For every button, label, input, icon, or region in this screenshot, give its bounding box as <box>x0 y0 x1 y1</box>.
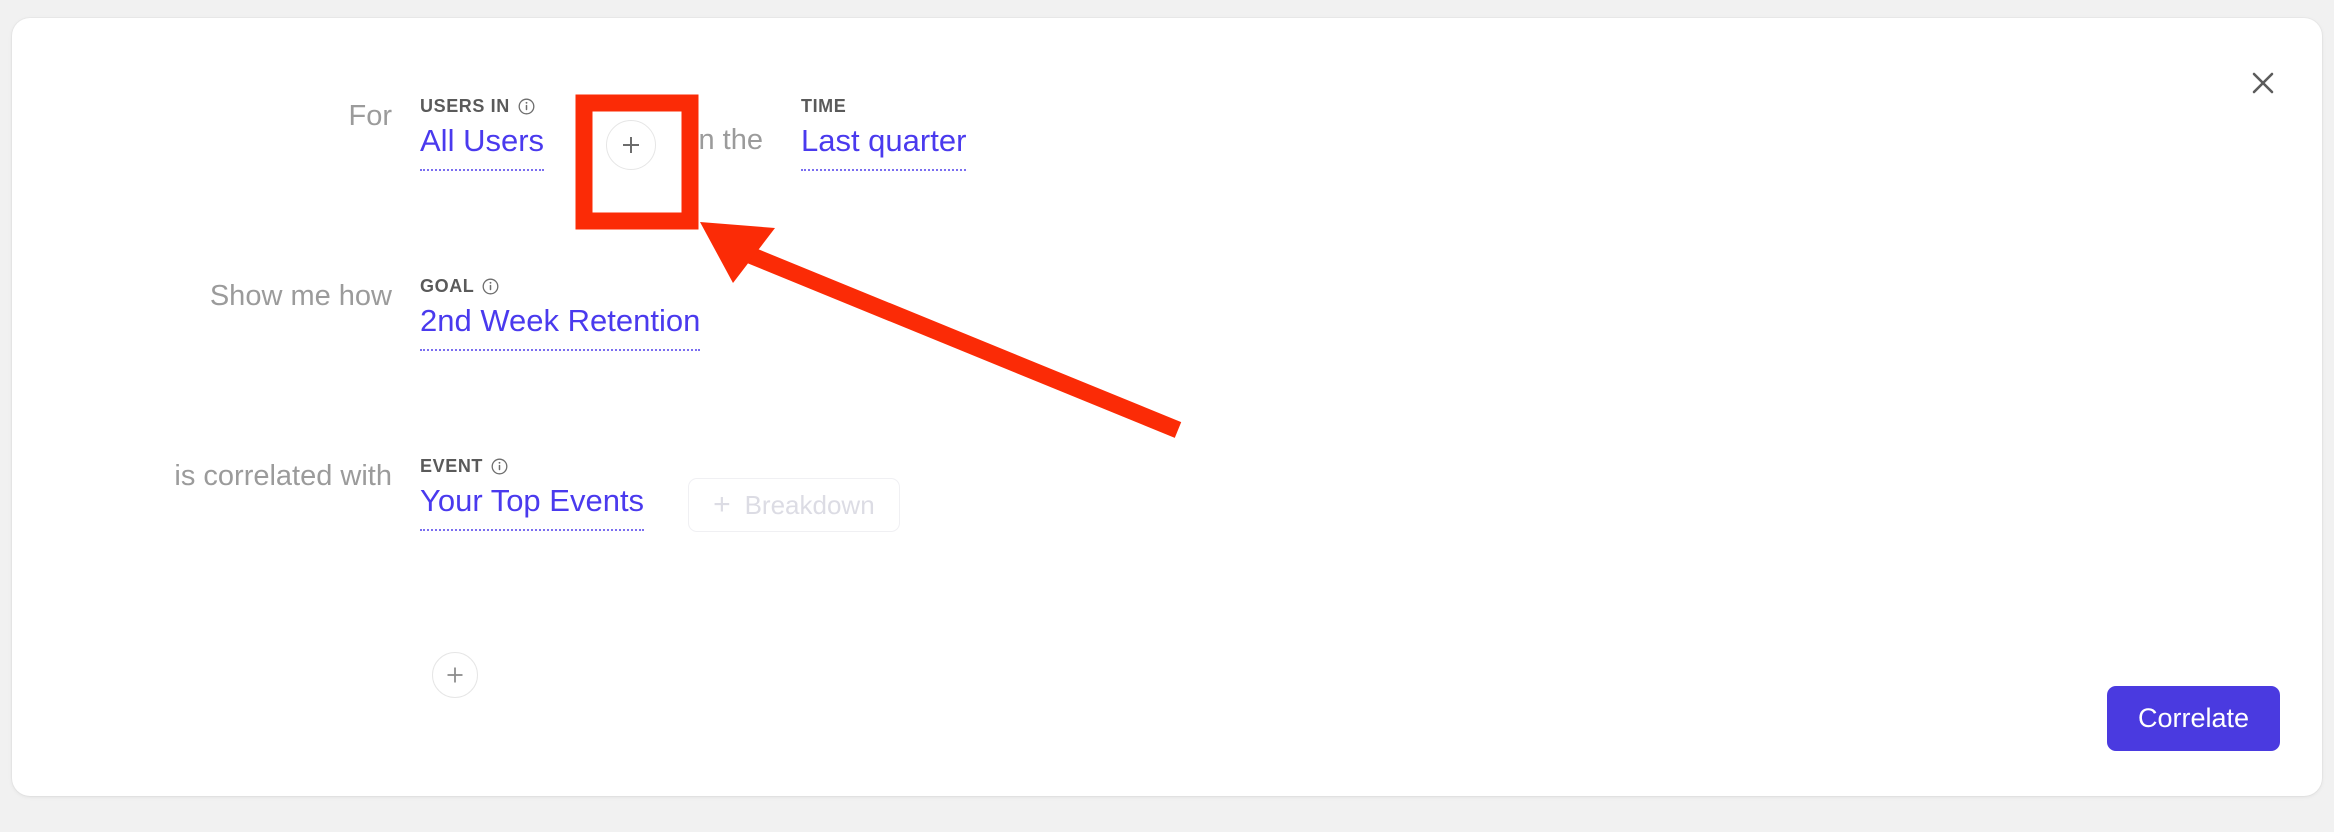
row-prefix-is-correlated-with: is correlated with <box>12 456 420 491</box>
info-icon[interactable] <box>482 278 499 295</box>
screenshot-root: For USERS IN All Users <box>0 0 2334 832</box>
query-row-users: For USERS IN All Users <box>12 96 966 171</box>
breakdown-label: Breakdown <box>745 490 875 521</box>
users-in-value[interactable]: All Users <box>420 125 544 171</box>
add-clause-button[interactable] <box>432 652 478 698</box>
add-clause-row <box>432 652 478 698</box>
event-field: EVENT Your Top Events <box>420 456 644 531</box>
query-row-event: is correlated with EVENT Your Top Events <box>12 456 900 532</box>
users-in-label: USERS IN <box>420 96 510 117</box>
info-icon[interactable] <box>518 98 535 115</box>
add-user-filter-button[interactable] <box>606 120 656 170</box>
event-value[interactable]: Your Top Events <box>420 485 644 531</box>
close-icon <box>2250 70 2276 96</box>
plus-icon <box>619 133 643 157</box>
users-in-label-group: USERS IN <box>420 96 544 116</box>
row-prefix-show-me-how: Show me how <box>12 276 420 311</box>
event-label-group: EVENT <box>420 456 644 476</box>
goal-value[interactable]: 2nd Week Retention <box>420 305 700 351</box>
event-label: EVENT <box>420 456 483 477</box>
goal-field: GOAL 2nd Week Retention <box>420 276 700 351</box>
plus-icon <box>444 664 466 686</box>
breakdown-button[interactable]: + Breakdown <box>688 478 900 532</box>
correlation-query-card: For USERS IN All Users <box>12 18 2322 796</box>
time-value[interactable]: Last quarter <box>801 125 966 171</box>
goal-label-group: GOAL <box>420 276 700 296</box>
close-button[interactable] <box>2240 60 2286 106</box>
row-prefix-in-the: in the <box>656 96 801 155</box>
plus-icon: + <box>713 490 731 520</box>
time-field: TIME Last quarter <box>801 96 966 171</box>
users-in-field: USERS IN All Users <box>420 96 544 171</box>
query-row-goal: Show me how GOAL 2nd Week Retention <box>12 276 700 351</box>
time-label: TIME <box>801 96 846 117</box>
time-label-group: TIME <box>801 96 966 116</box>
row-prefix-for: For <box>12 96 420 131</box>
info-icon[interactable] <box>491 458 508 475</box>
goal-label: GOAL <box>420 276 474 297</box>
correlate-button[interactable]: Correlate <box>2107 686 2280 751</box>
